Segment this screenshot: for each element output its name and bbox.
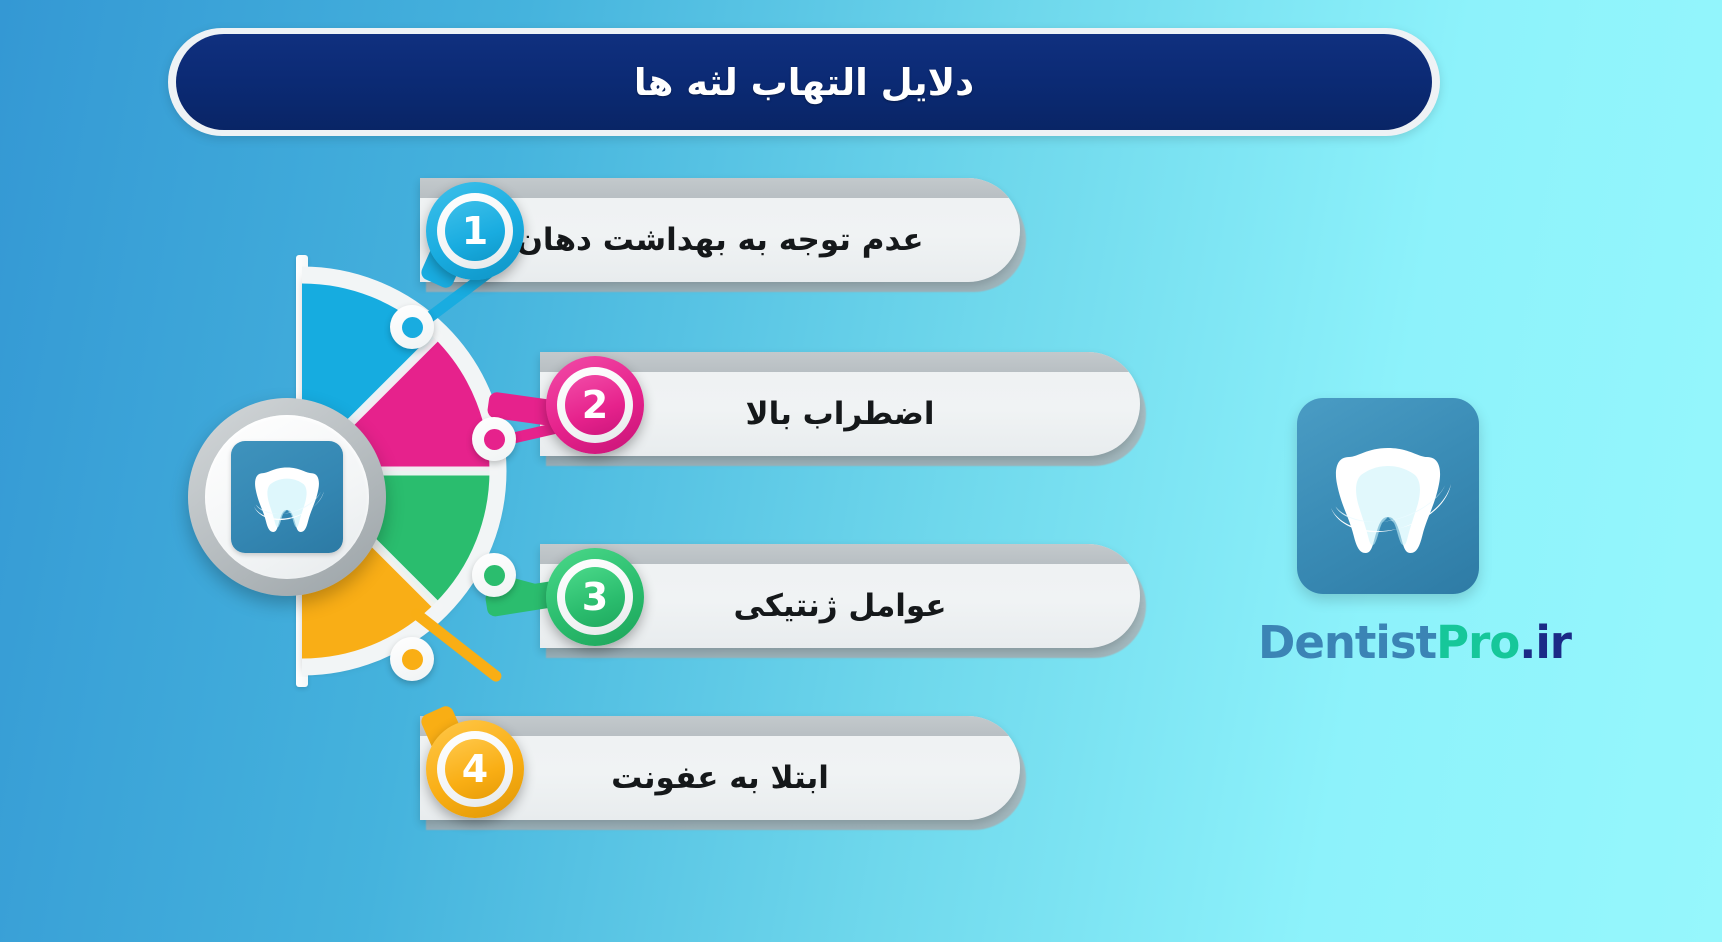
list-item: عدم توجه به بهداشت دهان 1 [420, 178, 1020, 296]
number-badge-core-3: 3 [565, 567, 625, 627]
hub-node-4[interactable] [390, 637, 434, 681]
number-badge-core-4: 4 [445, 739, 505, 799]
hub-node-1[interactable] [390, 305, 434, 349]
hub-node-dot-4 [402, 649, 423, 670]
number-badge-1[interactable]: 1 [426, 182, 524, 280]
brand-tooth-icon [1297, 398, 1479, 594]
hub-tooth-icon [231, 441, 343, 553]
hub-node-3[interactable] [472, 553, 516, 597]
list-item: ابتلا به عفونت 4 [420, 716, 1020, 834]
hub-node-dot-3 [484, 565, 505, 586]
hub-node-2[interactable] [472, 417, 516, 461]
brand-name: DentistPro.ir [1258, 616, 1518, 669]
tooth-icon [241, 451, 333, 543]
number-badge-ring-1: 1 [437, 193, 513, 269]
tooth-icon [1313, 421, 1463, 571]
page-title: دلایل التهاب لثه ها [634, 61, 974, 104]
pill-top-strip-4 [420, 716, 1020, 736]
brand-name-part2: Pro [1436, 616, 1519, 669]
hub-logo-badge [188, 398, 386, 596]
brand-name-part3: .ir [1519, 616, 1571, 669]
title-banner: دلایل التهاب لثه ها [168, 28, 1440, 136]
list-item: عوامل ژنتیکی 3 [540, 544, 1140, 662]
hub-logo-inner-ring [205, 415, 369, 579]
number-badge-ring-4: 4 [437, 731, 513, 807]
number-badge-core-1: 1 [445, 201, 505, 261]
number-badge-4[interactable]: 4 [426, 720, 524, 818]
number-badge-2[interactable]: 2 [546, 356, 644, 454]
number-badge-core-2: 2 [565, 375, 625, 435]
number-badge-3[interactable]: 3 [546, 548, 644, 646]
brand-name-part1: Dentist [1258, 616, 1436, 669]
hub-node-dot-1 [402, 317, 423, 338]
infographic-canvas: دلایل التهاب لثه ها [0, 0, 1722, 942]
pill-top-strip-3 [540, 544, 1140, 564]
pill-top-strip-2 [540, 352, 1140, 372]
pill-top-strip-1 [420, 178, 1020, 198]
hub-node-dot-2 [484, 429, 505, 450]
title-banner-inner: دلایل التهاب لثه ها [176, 34, 1432, 130]
brand-logo[interactable]: DentistPro.ir [1258, 398, 1518, 669]
number-badge-ring-3: 3 [557, 559, 633, 635]
list-item: اضطراب بالا 2 [540, 352, 1140, 470]
number-badge-ring-2: 2 [557, 367, 633, 443]
